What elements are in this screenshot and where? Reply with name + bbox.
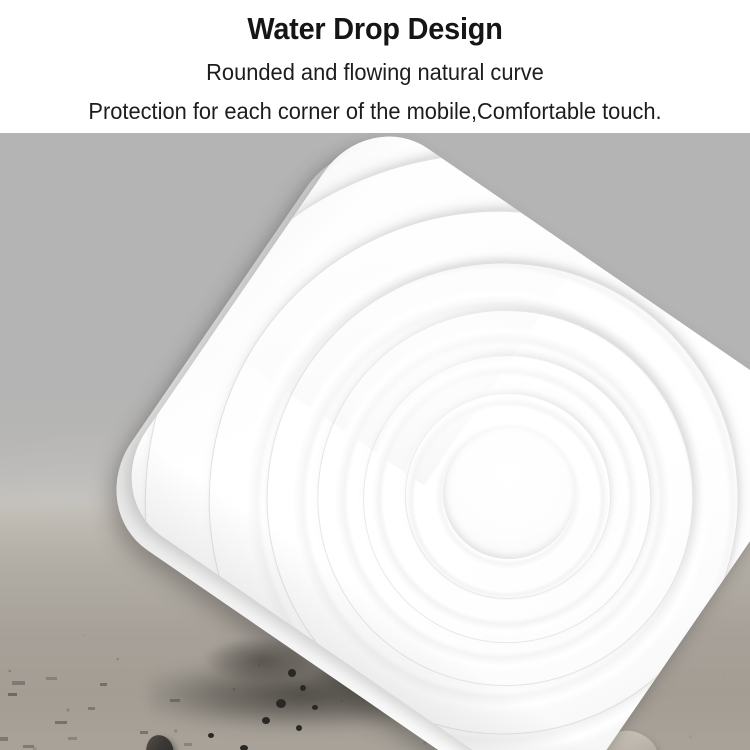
case-shell <box>102 133 750 750</box>
headline-title: Water Drop Design <box>26 11 724 47</box>
product-feature-image: Water Drop Design Rounded and flowing na… <box>0 0 750 750</box>
marketing-text-banner: Water Drop Design Rounded and flowing na… <box>0 0 750 133</box>
subheadline-line-2: Protection for each corner of the mobile… <box>19 98 732 125</box>
subheadline-line-1: Rounded and flowing natural curve <box>19 59 732 86</box>
phone-case <box>0 133 750 750</box>
product-photo <box>0 133 750 750</box>
